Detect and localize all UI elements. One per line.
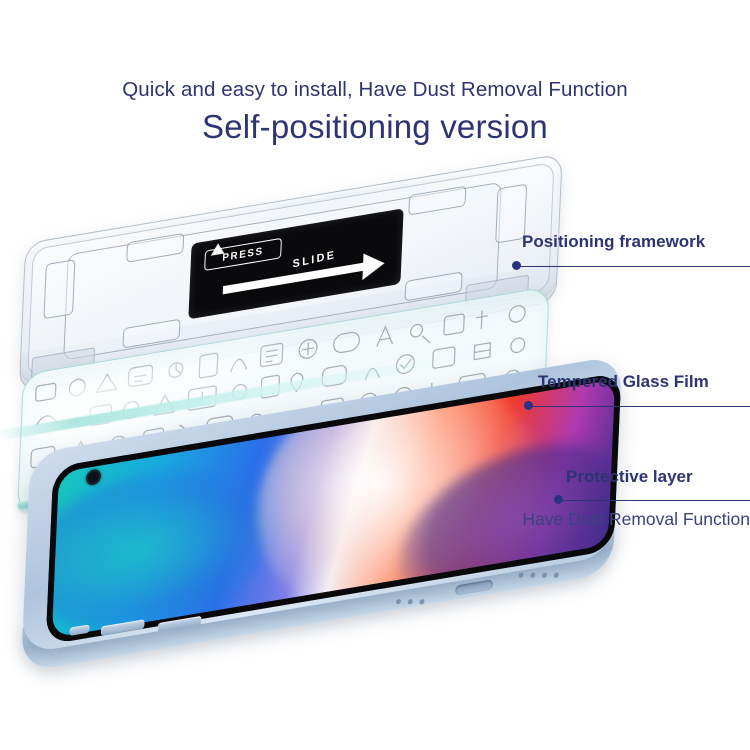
product-infographic: Quick and easy to install, Have Dust Rem… (0, 0, 750, 750)
callout-tempered-glass-film: Tempered Glass Film (538, 373, 709, 391)
leader-dot-1 (512, 261, 521, 270)
slide-arrow-head-icon (362, 250, 385, 280)
callout-label: Protective layer (566, 468, 693, 486)
callout-protective-layer-subtext: Have Dust Removal Function (470, 508, 750, 530)
callout-positioning-framework: Positioning framework (522, 233, 705, 251)
callout-label: Tempered Glass Film (538, 373, 709, 391)
page-title: Self-positioning version (0, 108, 750, 146)
leader-line-1 (516, 266, 750, 268)
tray-clip-left (43, 259, 75, 319)
headline-subtitle: Quick and easy to install, Have Dust Rem… (0, 78, 750, 102)
leader-dot-3 (554, 495, 563, 504)
leader-line-2 (528, 406, 750, 408)
leader-line-3 (558, 500, 750, 502)
leader-dot-2 (524, 401, 533, 410)
callout-protective-layer: Protective layer (566, 468, 693, 486)
callout-label: Positioning framework (522, 233, 705, 251)
